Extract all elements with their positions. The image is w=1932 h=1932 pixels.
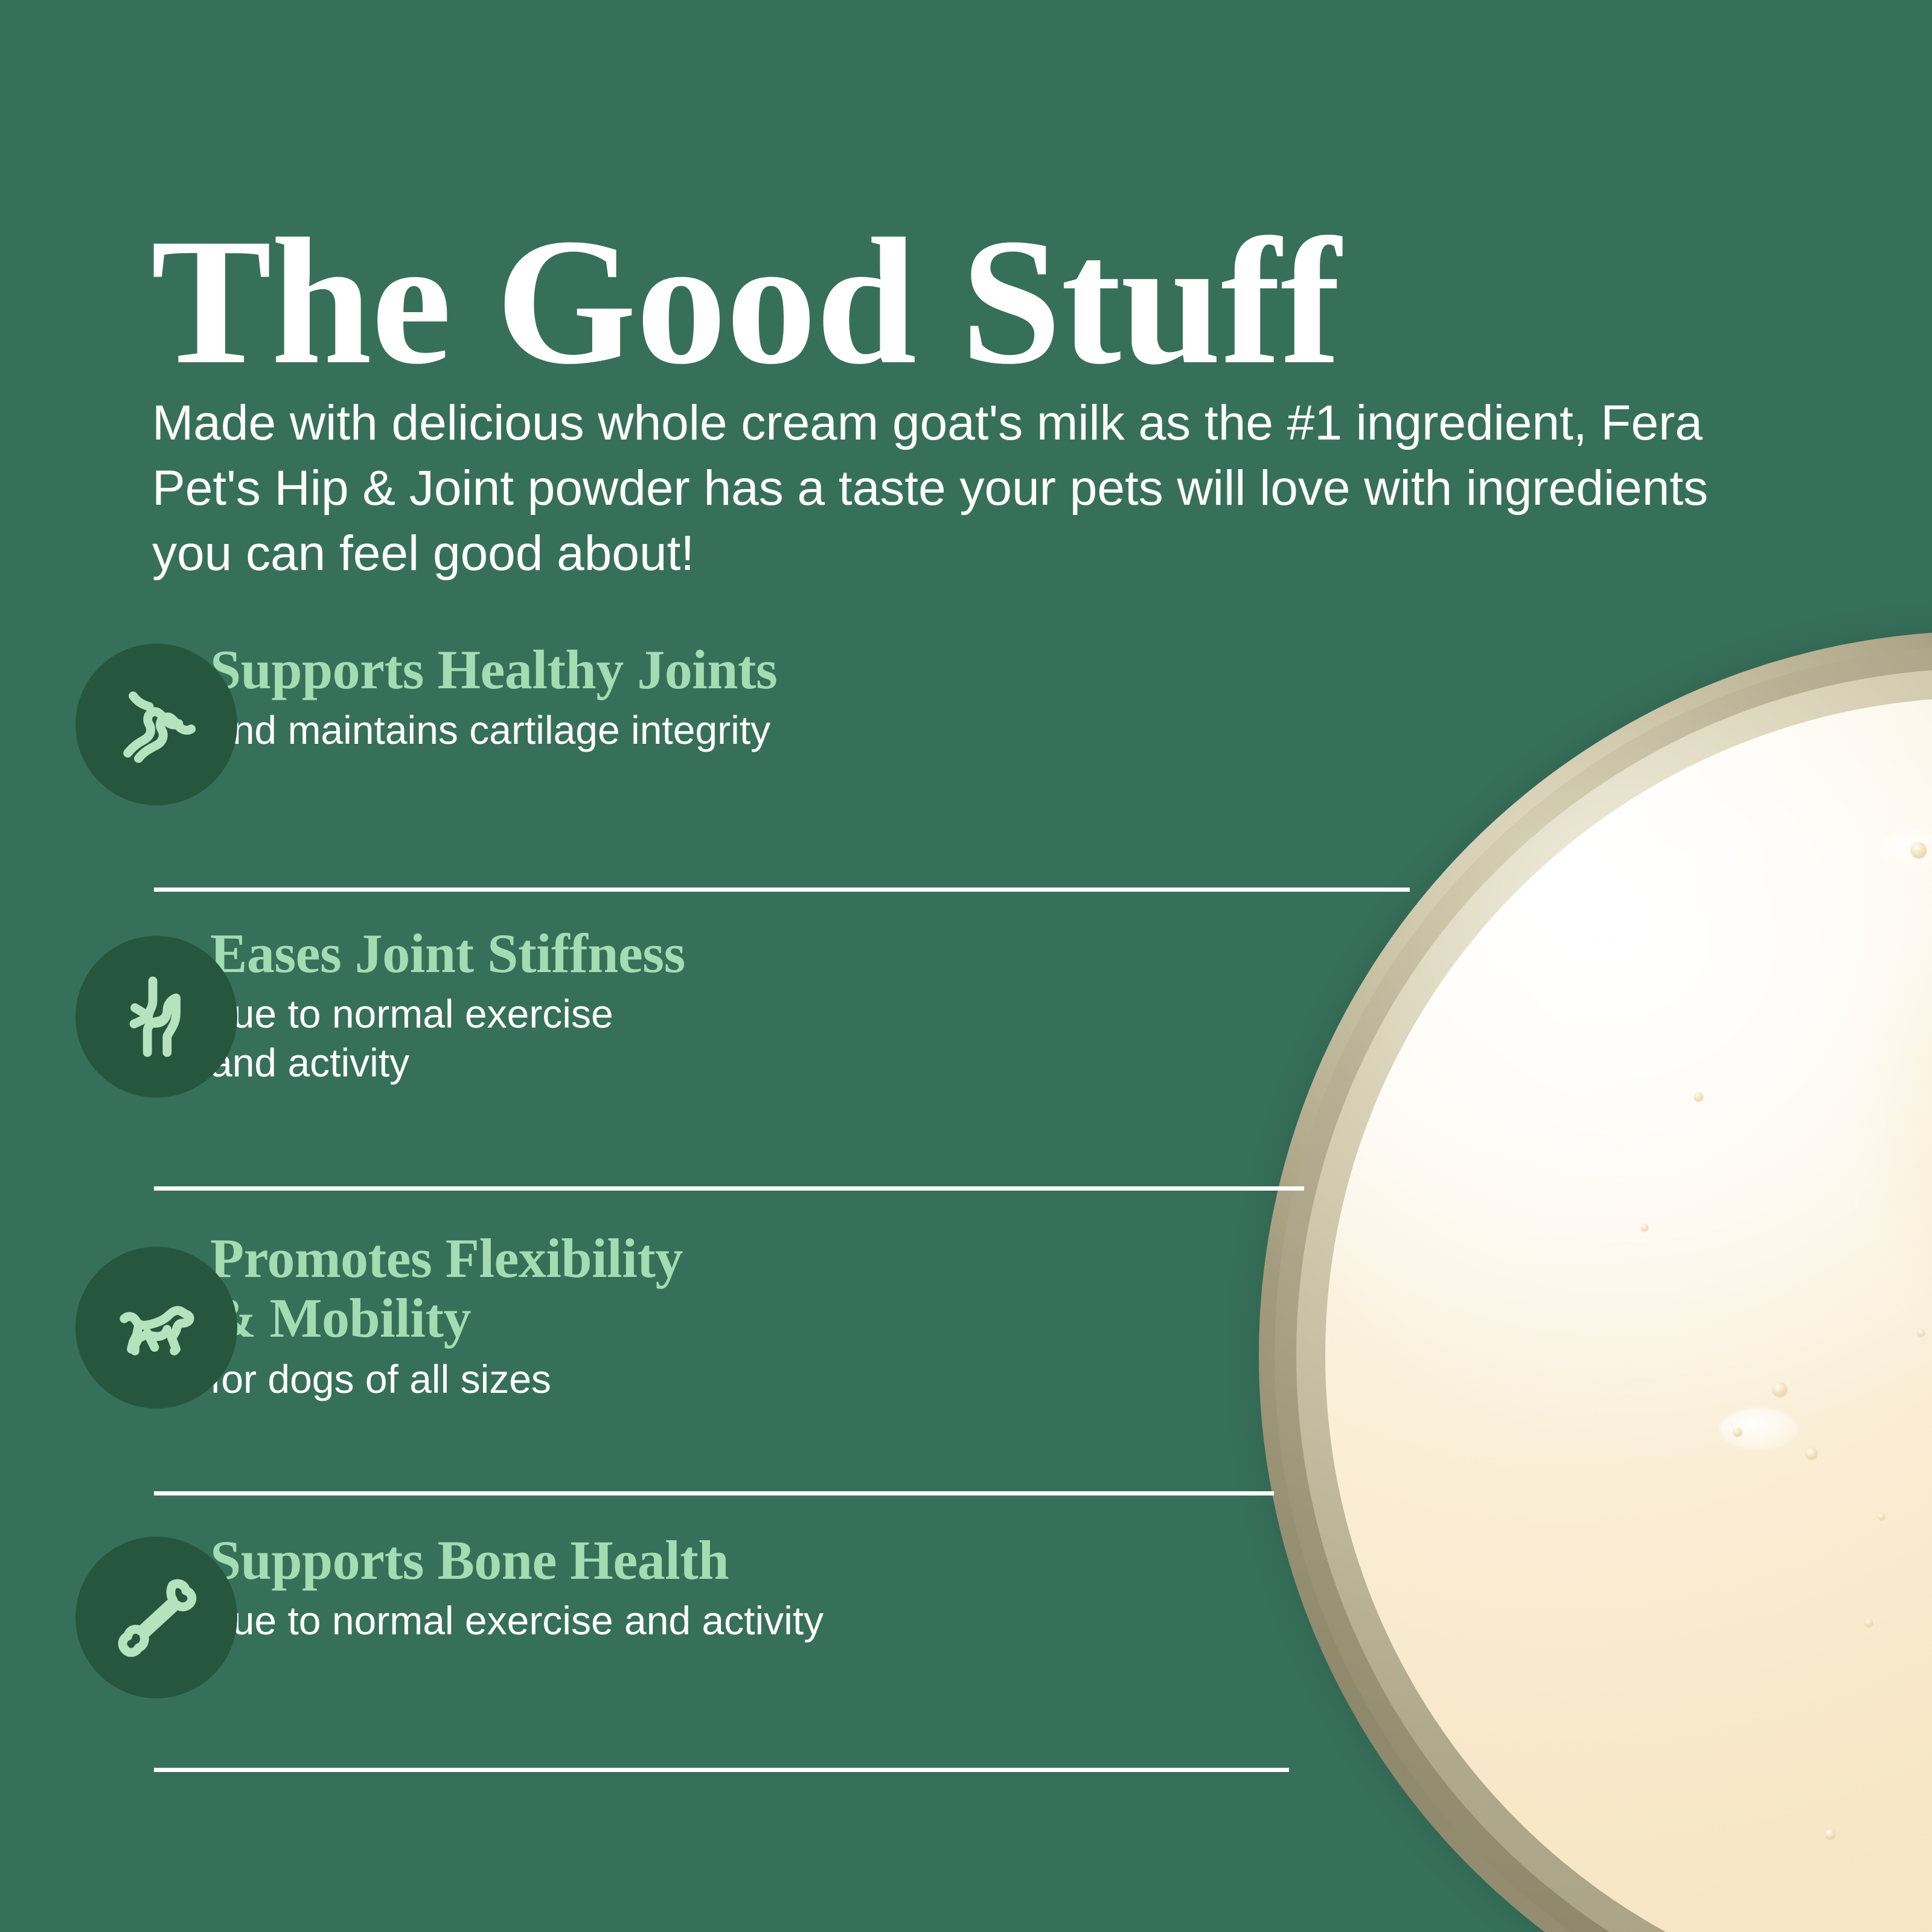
milk-sheen <box>1325 697 1932 1460</box>
benefit-subtitle: due to normal exercise and activity <box>210 990 685 1087</box>
benefit-row: Supports Bone Health due to normal exerc… <box>0 1531 1389 1808</box>
joint-bone-icon <box>75 644 237 805</box>
page-title: The Good Stuff <box>151 211 1340 392</box>
intro-paragraph: Made with delicious whole cream goat's m… <box>152 391 1734 587</box>
benefit-row: Supports Healthy Joints and maintains ca… <box>0 640 1389 924</box>
benefit-subtitle: and maintains cartilage integrity <box>210 706 777 755</box>
knee-joint-motion-icon <box>75 936 237 1098</box>
benefit-row: Promotes Flexibility & Mobility for dogs… <box>0 1229 1389 1531</box>
benefits-list: Supports Healthy Joints and maintains ca… <box>0 640 1389 1808</box>
milk-surface <box>1325 697 1932 1932</box>
benefit-text: Supports Bone Health due to normal exerc… <box>210 1531 824 1645</box>
benefit-subtitle: for dogs of all sizes <box>210 1355 683 1404</box>
benefit-subtitle: due to normal exercise and activity <box>210 1596 824 1645</box>
benefit-title: Eases Joint Stiffness <box>210 924 685 984</box>
milk-edge-light <box>1325 697 1932 1932</box>
milk-warm-tone <box>1878 776 1932 1460</box>
benefit-text: Promotes Flexibility & Mobility for dogs… <box>210 1229 683 1403</box>
benefit-text: Eases Joint Stiffness due to normal exer… <box>210 924 685 1087</box>
benefit-title: Promotes Flexibility & Mobility <box>210 1229 683 1349</box>
dog-icon <box>75 1247 237 1409</box>
benefit-title: Supports Bone Health <box>210 1531 824 1590</box>
benefit-text: Supports Healthy Joints and maintains ca… <box>210 640 777 755</box>
content-column: The Good Stuff Made with delicious whole… <box>0 0 1389 1932</box>
poster-root: The Good Stuff Made with delicious whole… <box>0 0 1932 1932</box>
benefit-title: Supports Healthy Joints <box>210 640 777 700</box>
bowl-rim-highlight <box>1296 668 1932 1932</box>
benefit-row: Eases Joint Stiffness due to normal exer… <box>0 924 1389 1229</box>
dog-bone-icon <box>75 1537 237 1698</box>
